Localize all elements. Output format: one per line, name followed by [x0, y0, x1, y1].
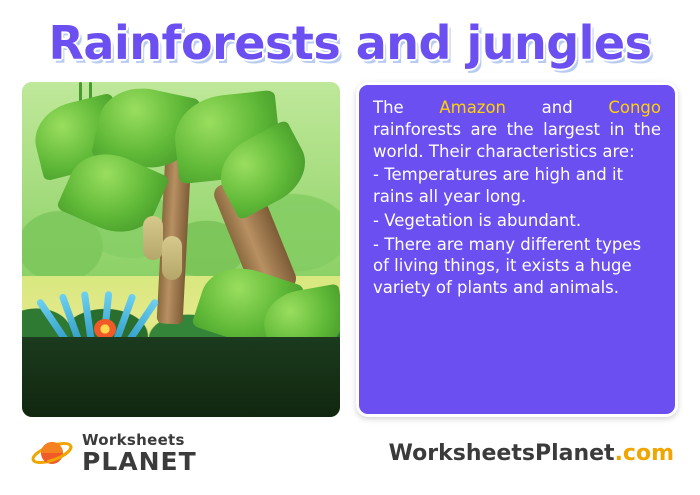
description-card: The Amazon and Congo rainforests are the…	[356, 82, 678, 417]
brand-logo[interactable]: Worksheets PLANET	[30, 431, 197, 475]
card-bullet-biodiversity: - There are many different types of livi…	[373, 234, 661, 299]
illustration-hanging-fruit	[143, 216, 163, 260]
amazon-keyword: Amazon	[439, 98, 506, 117]
footer-website-url[interactable]: WorksheetsPlanet.com	[389, 441, 674, 466]
brand-text: Worksheets PLANET	[82, 433, 197, 474]
illustration-ground-dark	[22, 337, 340, 417]
rainforest-jungle-illustration	[22, 82, 340, 417]
footer: Worksheets PLANET WorksheetsPlanet.com	[0, 425, 700, 485]
planet-icon	[30, 431, 74, 475]
brand-planet-label: PLANET	[82, 449, 197, 474]
congo-keyword: Congo	[608, 98, 661, 117]
intro-pre-text: The	[373, 98, 439, 117]
card-bullet-vegetation: - Vegetation is abundant.	[373, 210, 661, 232]
intro-mid-text: and	[506, 98, 608, 117]
brand-worksheets-label: Worksheets	[82, 433, 197, 448]
card-bullet-temperature: - Temperatures are high and it rains all…	[373, 164, 661, 208]
footer-url-main: WorksheetsPlanet	[389, 441, 615, 466]
illustration-hanging-fruit	[162, 236, 182, 280]
worksheet-page: Rainforests and jungles	[0, 0, 700, 495]
intro-post-text: rainforests are the largest in the world…	[373, 120, 661, 161]
title-bar: Rainforests and jungles	[0, 12, 700, 74]
footer-url-tld: .com	[615, 441, 674, 466]
card-intro-paragraph: The Amazon and Congo rainforests are the…	[373, 97, 661, 162]
page-title: Rainforests and jungles	[48, 16, 651, 70]
